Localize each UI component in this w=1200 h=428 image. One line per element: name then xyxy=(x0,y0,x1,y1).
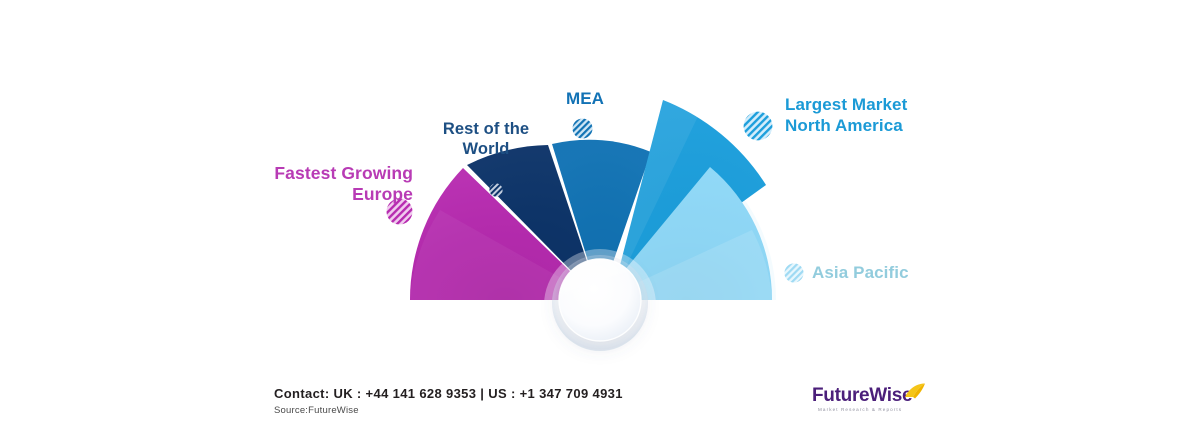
legend-dot-mea-icon xyxy=(572,118,593,139)
regional-market-share-pie-chart xyxy=(0,0,1200,428)
label-asia-pacific: Asia Pacific xyxy=(812,263,972,284)
source-line: Source:FutureWise xyxy=(274,405,623,416)
logo-wordmark: FutureWise xyxy=(812,385,912,407)
legend-dot-asia-pacific-icon xyxy=(784,263,804,283)
footer: Contact: UK : +44 141 628 9353 | US : +1… xyxy=(274,386,623,416)
logo-swoosh-icon xyxy=(904,383,926,401)
logo-tagline: Market Research & Reports xyxy=(818,407,902,412)
legend-dot-north-america-icon xyxy=(743,111,773,141)
label-north-america: Largest Market North America xyxy=(785,95,985,136)
contact-line: Contact: UK : +44 141 628 9353 | US : +1… xyxy=(274,386,623,401)
legend-dot-rest-of-world-icon xyxy=(489,183,503,197)
label-europe: Fastest Growing Europe xyxy=(223,163,413,206)
futurewise-logo: FutureWise Market Research & Reports xyxy=(812,385,927,419)
infographic-canvas: Fastest Growing Europe Rest of the World… xyxy=(0,0,1200,428)
label-mea: MEA xyxy=(545,89,625,110)
chart-center-hub xyxy=(544,249,656,361)
label-rest-of-the-world: Rest of the World xyxy=(428,119,544,159)
